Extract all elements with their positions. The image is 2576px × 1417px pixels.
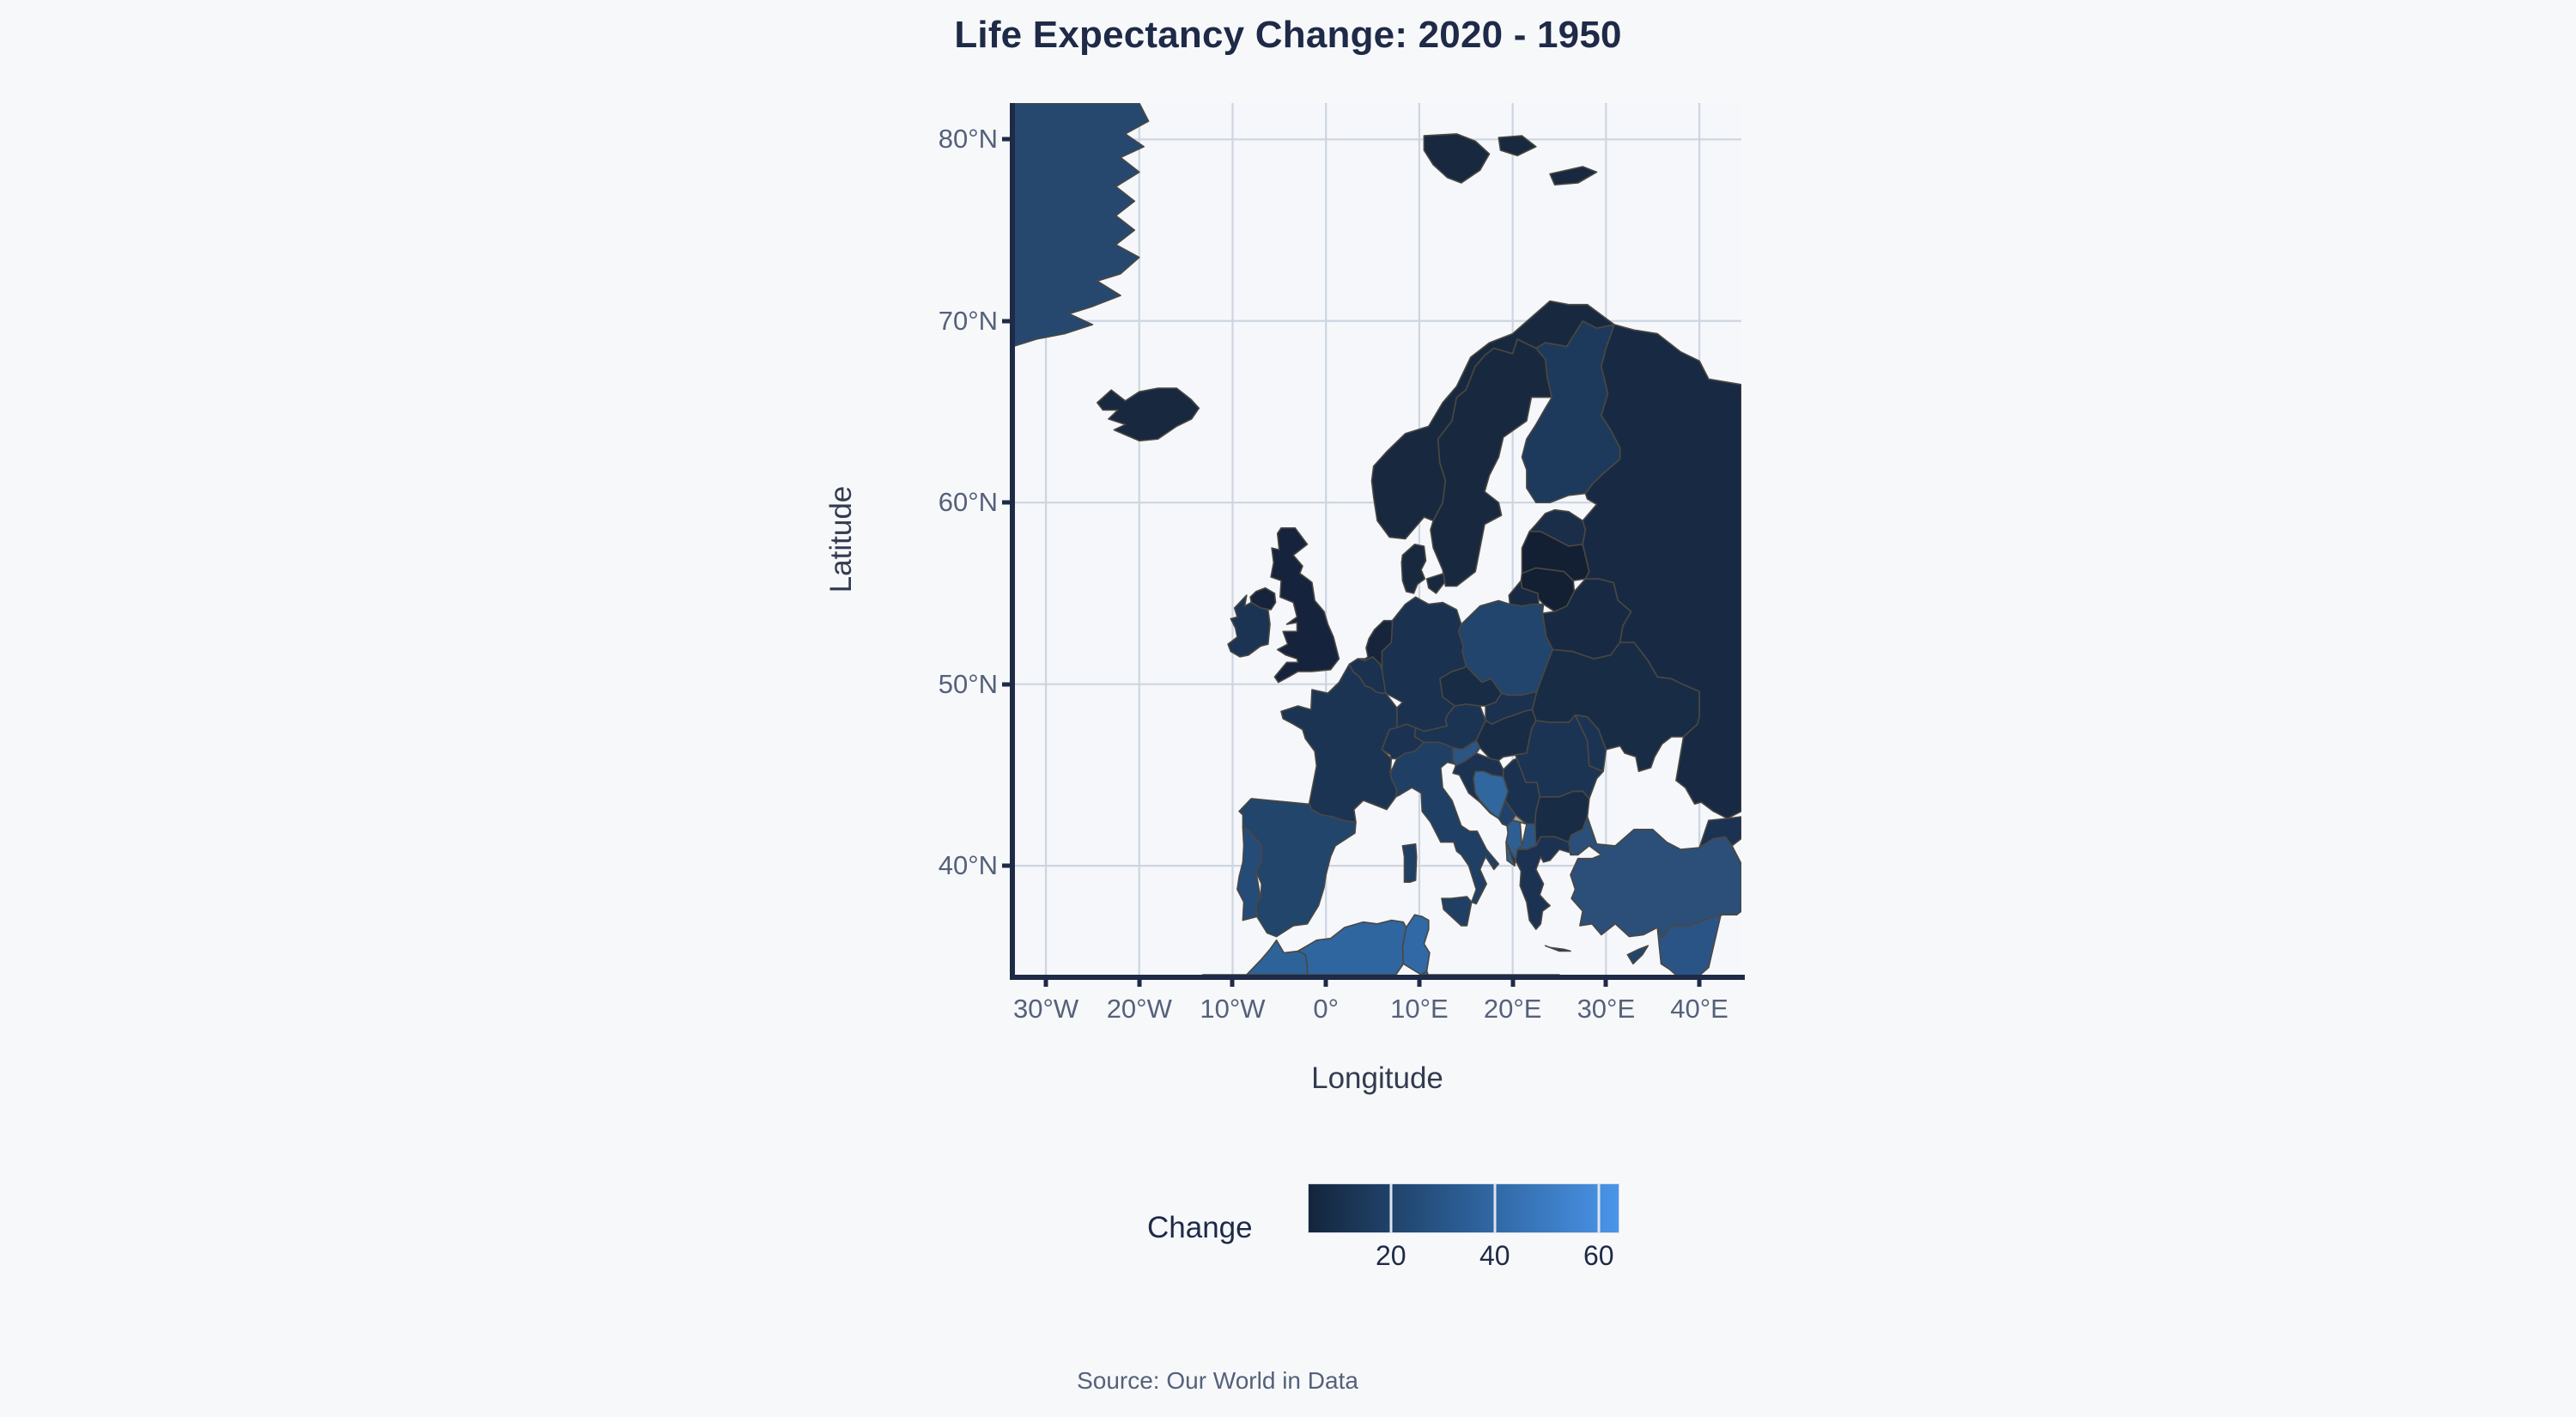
x-tick-label: 20°E bbox=[1484, 994, 1542, 1025]
x-tick-label: 30°E bbox=[1577, 994, 1636, 1025]
x-tick-label: 10°E bbox=[1390, 994, 1449, 1025]
x-tick-mark bbox=[1417, 975, 1421, 987]
y-tick-mark bbox=[1002, 319, 1013, 323]
colorbar-tick-label: 60 bbox=[1583, 1240, 1614, 1272]
y-tick-label: 70°N bbox=[939, 306, 998, 337]
x-tick-mark bbox=[1604, 975, 1608, 987]
y-axis-label: Latitude bbox=[824, 486, 859, 593]
map-region[interactable] bbox=[1627, 946, 1648, 964]
y-tick-label: 40°N bbox=[939, 850, 998, 881]
x-tick-label: 20°W bbox=[1107, 994, 1172, 1025]
map-region[interactable] bbox=[1442, 897, 1472, 926]
y-tick-mark bbox=[1002, 682, 1013, 686]
x-tick-label: 40°E bbox=[1670, 994, 1728, 1025]
y-tick-label: 80°N bbox=[939, 124, 998, 155]
x-tick-mark bbox=[1044, 975, 1048, 987]
page-title: Life Expectancy Change: 2020 - 1950 bbox=[0, 14, 2576, 57]
map-region[interactable] bbox=[1013, 103, 1149, 346]
map-region[interactable] bbox=[1424, 134, 1489, 183]
y-tick-mark bbox=[1002, 137, 1013, 142]
y-tick-label: 50°N bbox=[939, 669, 998, 700]
map-region[interactable] bbox=[1402, 844, 1416, 882]
y-tick-mark bbox=[1002, 864, 1013, 868]
map-region[interactable] bbox=[1402, 915, 1430, 975]
y-axis-spine bbox=[1010, 103, 1015, 975]
map-plot-area: 40°N50°N60°N70°N80°N 30°W20°W10°W0°10°E2… bbox=[1013, 103, 1741, 975]
x-tick-mark bbox=[1698, 975, 1702, 987]
colorbar-gradient bbox=[1308, 1183, 1619, 1233]
map-region[interactable] bbox=[1271, 528, 1339, 683]
colorbar-tick-mark bbox=[1493, 1183, 1496, 1233]
colorbar-title: Change bbox=[1147, 1211, 1253, 1245]
colorbar[interactable]: 204060 bbox=[1308, 1183, 1619, 1233]
x-tick-mark bbox=[1230, 975, 1235, 987]
choropleth-map bbox=[1013, 103, 1741, 975]
map-region[interactable] bbox=[1550, 167, 1596, 185]
x-tick-mark bbox=[1510, 975, 1515, 987]
colorbar-tick-label: 40 bbox=[1479, 1240, 1510, 1272]
colorbar-tick-mark bbox=[1597, 1183, 1600, 1233]
map-region[interactable] bbox=[1427, 574, 1445, 593]
x-tick-label: 10°W bbox=[1200, 994, 1265, 1025]
map-region[interactable] bbox=[1546, 946, 1571, 951]
x-tick-mark bbox=[1324, 975, 1328, 987]
x-tick-label: 30°W bbox=[1013, 994, 1078, 1025]
x-axis-spine bbox=[1010, 975, 1745, 980]
y-tick-mark bbox=[1002, 501, 1013, 505]
source-note: Source: Our World in Data bbox=[1077, 1367, 1358, 1395]
x-tick-mark bbox=[1137, 975, 1141, 987]
colorbar-tick-label: 20 bbox=[1376, 1240, 1406, 1272]
x-axis-label: Longitude bbox=[1311, 1061, 1443, 1096]
map-country-layer bbox=[1013, 103, 1741, 975]
map-region[interactable] bbox=[1097, 388, 1200, 441]
figure-canvas: Life Expectancy Change: 2020 - 1950 40°N… bbox=[0, 0, 2576, 1417]
y-tick-label: 60°N bbox=[939, 487, 998, 518]
map-region[interactable] bbox=[1401, 544, 1425, 593]
colorbar-tick-mark bbox=[1389, 1183, 1392, 1233]
map-region[interactable] bbox=[1203, 940, 1312, 975]
map-region[interactable] bbox=[1298, 921, 1406, 975]
x-tick-label: 0° bbox=[1313, 994, 1339, 1025]
